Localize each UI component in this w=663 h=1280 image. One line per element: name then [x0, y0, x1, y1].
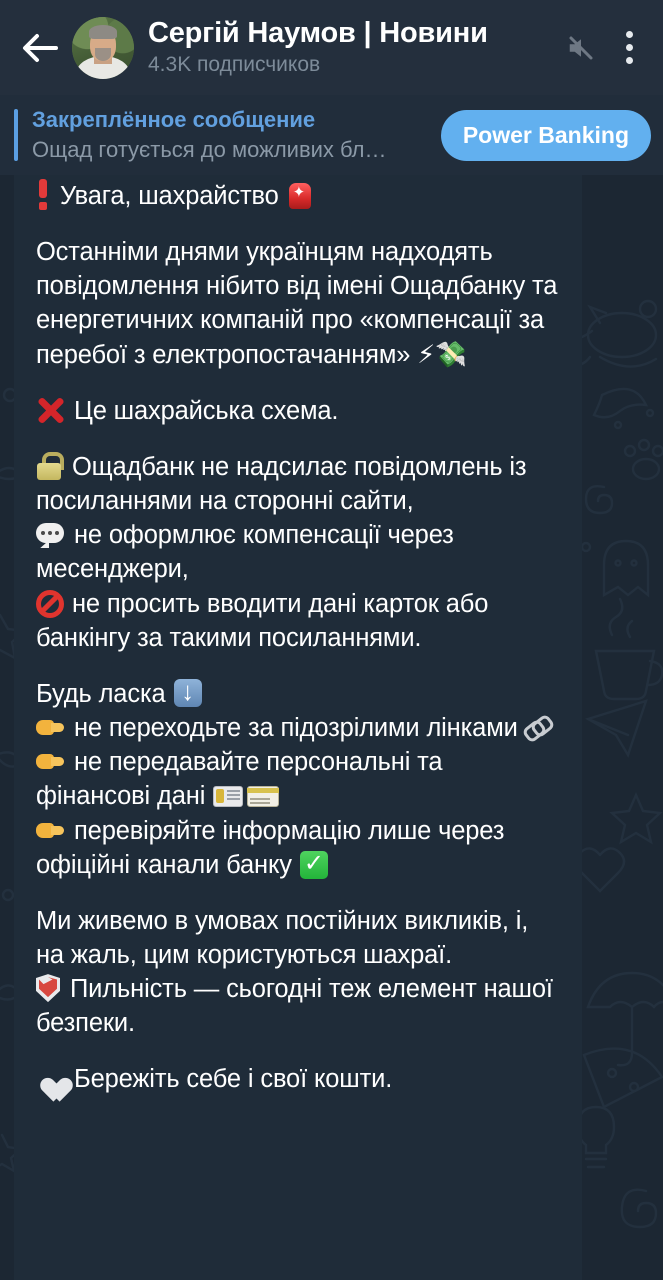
white-heart-icon [36, 1066, 64, 1091]
line-text: Останніми днями українцям надходять пові… [36, 238, 557, 368]
pinned-text-block: Закреплённое сообщение Ощад готується до… [32, 107, 441, 164]
channel-title: Сергій Наумов | Новини [148, 17, 561, 49]
id-card-icon [213, 786, 243, 807]
message-line: Пильність — сьогодні теж елемент нашої б… [36, 972, 562, 1040]
avatar-hair [89, 25, 118, 39]
chat-title-block[interactable]: Сергій Наумов | Новини 4.3K подписчиков [148, 17, 561, 78]
chat-header: Сергій Наумов | Новини 4.3K подписчиков [0, 0, 663, 95]
spacer [36, 1040, 562, 1062]
message-line: не оформлює компенсації через месенджери… [36, 518, 562, 586]
menu-dot [626, 57, 633, 64]
shield-icon [36, 974, 60, 1002]
red-exclamation-icon [36, 179, 50, 209]
message-line: Це шахрайська схема. [36, 394, 562, 428]
spacer [36, 655, 562, 677]
spacer [36, 882, 562, 904]
line-text: Це шахрайська схема. [74, 397, 338, 425]
back-button[interactable] [12, 20, 68, 76]
pinned-preview: Ощад готується до можливих бл… [32, 136, 441, 164]
link-icon [524, 717, 548, 739]
lightning-money-wings-icon: ⚡💸 [417, 340, 466, 370]
message-line: перевіряйте інформацію лише через офіцій… [36, 814, 562, 882]
message-line: Бережіть себе і свої кошти. [36, 1062, 562, 1096]
red-cross-mark-icon [36, 395, 66, 425]
pointing-finger-icon [36, 716, 64, 740]
line-text: Ощадбанк не надсилає повідомлень із поси… [36, 453, 526, 515]
message-bubble[interactable]: Ощадбанк попереджає Увага, шахрайство Ос… [14, 153, 582, 1280]
line-text: не оформлює компенсації через месенджери… [36, 521, 454, 583]
speech-balloon-icon [36, 523, 64, 547]
pointing-finger-icon [36, 819, 64, 843]
line-text: Ми живемо в умовах постійних викликів, і… [36, 907, 528, 969]
line-text: Увага, шахрайство [60, 182, 279, 210]
line-text: не просить вводити дані карток або банкі… [36, 590, 488, 652]
spacer [36, 213, 562, 235]
message-line: Будь ласка [36, 677, 562, 711]
pinned-message-bar[interactable]: Закреплённое сообщение Ощад готується до… [0, 95, 663, 175]
prohibited-icon [36, 590, 64, 618]
overflow-menu-button[interactable] [609, 22, 649, 74]
line-text: не переходьте за підозрілими лінками [74, 714, 518, 742]
menu-dot [626, 44, 633, 51]
message-line: Останніми днями українцям надходять пові… [36, 235, 562, 372]
message-line: Ми живемо в умовах постійних викликів, і… [36, 904, 562, 972]
header-icons [561, 22, 649, 74]
spacer [36, 428, 562, 450]
avatar[interactable] [72, 17, 134, 79]
spacer [36, 372, 562, 394]
line-text: Будь ласка [36, 680, 166, 708]
message-line: не передавайте персональні та фінансові … [36, 745, 562, 813]
message-line: Ощадбанк не надсилає повідомлень із поси… [36, 450, 562, 518]
message-line: не просить вводити дані карток або банкі… [36, 587, 562, 655]
back-arrow-icon [22, 33, 58, 63]
lock-icon [36, 452, 62, 480]
check-mark-icon [300, 851, 328, 879]
message-line: не переходьте за підозрілими лінками [36, 711, 562, 745]
menu-dot [626, 31, 633, 38]
police-siren-icon [287, 181, 313, 209]
pinned-label: Закреплённое сообщение [32, 107, 441, 133]
line-text: Бережіть себе і свої кошти. [74, 1065, 392, 1093]
line-text: перевіряйте інформацію лише через офіцій… [36, 817, 504, 879]
muted-speaker-icon [561, 28, 601, 68]
down-arrow-icon [174, 679, 202, 707]
pointing-finger-icon [36, 750, 64, 774]
line-text: Пильність — сьогодні теж елемент нашої б… [36, 975, 553, 1037]
subscriber-count: 4.3K подписчиков [148, 52, 561, 78]
message-list: Ощадбанк попереджає Увага, шахрайство Ос… [0, 175, 663, 1280]
message-line: Увага, шахрайство [36, 179, 562, 213]
credit-card-icon [247, 786, 279, 807]
pinned-accent-line [14, 109, 18, 161]
power-banking-button[interactable]: Power Banking [441, 110, 651, 161]
telegram-channel-screen: Сергій Наумов | Новини 4.3K подписчиков … [0, 0, 663, 1280]
